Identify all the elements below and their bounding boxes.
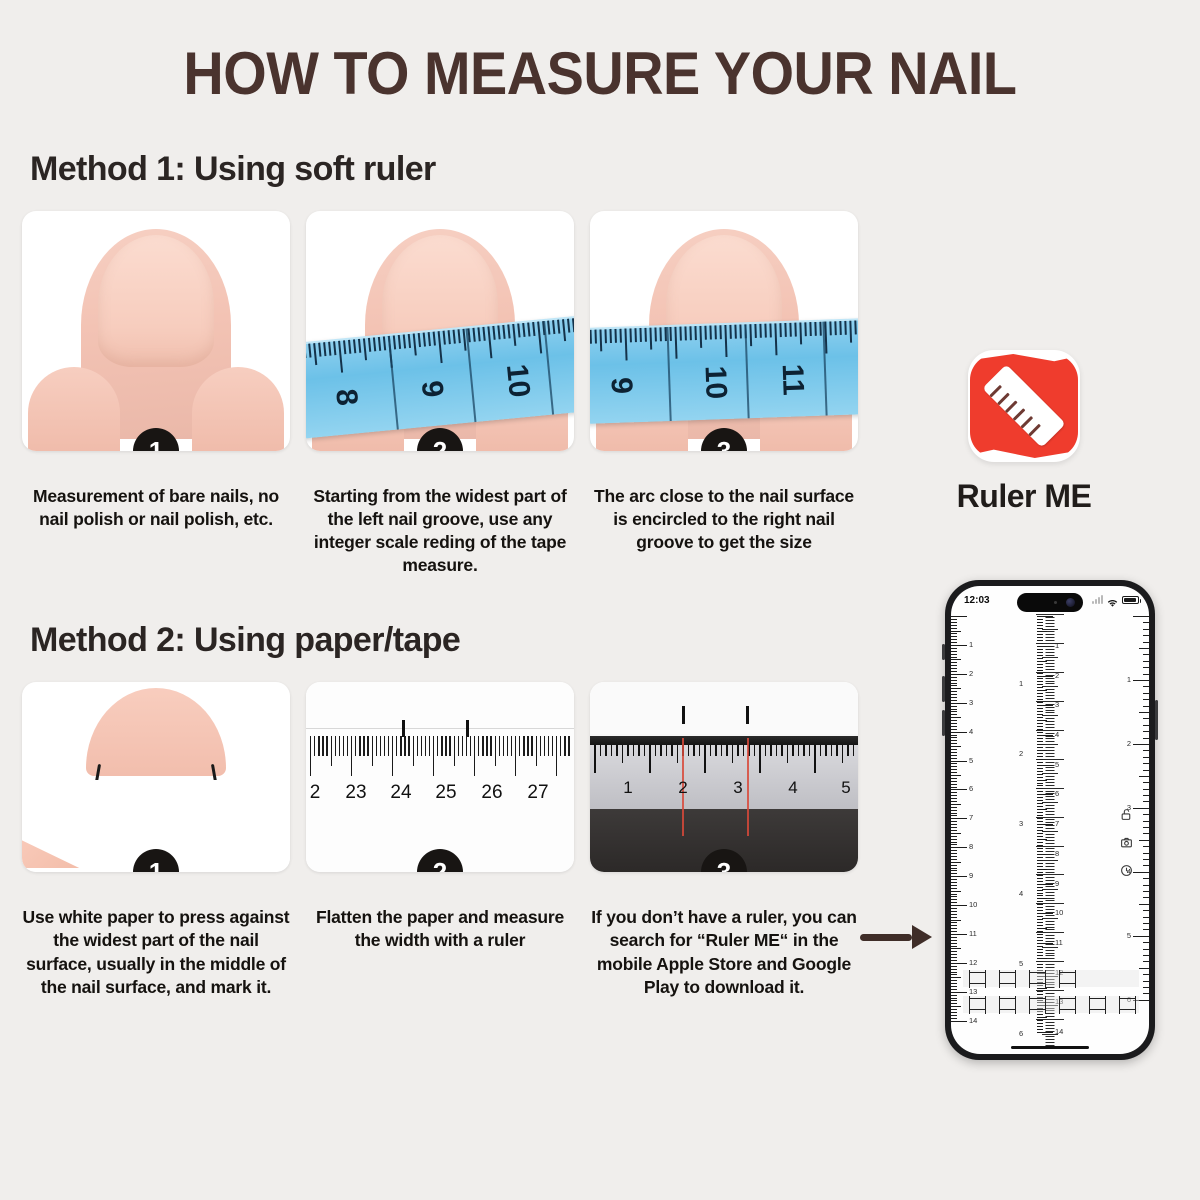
ruler-me-app-icon[interactable] (968, 350, 1080, 462)
step-caption: If you don’t have a ruler, you can searc… (590, 906, 858, 998)
dynamic-island (1017, 593, 1083, 612)
ruler-number: 26 (481, 782, 502, 804)
battery-icon (1122, 596, 1139, 604)
step-card-m1-3: 9 10 11 3 The arc close to the nail surf… (590, 211, 858, 577)
step-image-metal-ruler: 1 2 3 4 5 3 (590, 682, 858, 872)
bare-fingernail-illustration (22, 211, 290, 451)
status-bar-indicators (1092, 595, 1139, 604)
sensor-dot-icon (1054, 601, 1057, 604)
app-promo-column: Ruler ME 12:03 (890, 150, 1200, 1160)
volume-down-button[interactable] (942, 710, 945, 736)
pen-mark-a (402, 720, 405, 737)
step-image-paper-on-nail: 1 (22, 682, 290, 872)
ruler-number: 1 (623, 778, 632, 798)
step-caption: Use white paper to press against the wid… (22, 906, 290, 998)
measurement-row-1[interactable] (963, 970, 1139, 987)
ruler-number: 5 (841, 778, 850, 798)
step-card-m2-2: 2 23 24 25 26 27 2 Flatten the paper and… (306, 682, 574, 998)
history-clock-icon[interactable] (1120, 864, 1133, 877)
metal-ruler-illustration: 1 2 3 4 5 (590, 682, 858, 872)
phone-mockup: 12:03 1234567891011121314 123456 123456 … (945, 580, 1155, 1060)
nail-under-paper-shape (86, 688, 226, 776)
power-button[interactable] (1155, 700, 1158, 740)
tape-number: 10 (698, 365, 733, 400)
method-1-steps-row: 1 Measurement of bare nails, no nail pol… (0, 211, 890, 577)
phone-tool-icons (1120, 808, 1133, 877)
tape-ticks (590, 320, 858, 364)
step-caption: The arc close to the nail surface is enc… (590, 485, 858, 554)
app-name-label: Ruler ME (890, 478, 1158, 515)
arrow-shaft (860, 934, 912, 941)
tape-number: 11 (775, 363, 810, 396)
arrow-head (912, 925, 932, 949)
wifi-icon (1107, 595, 1118, 604)
pen-mark-b (746, 706, 749, 724)
front-camera-icon (1066, 598, 1075, 607)
ruler-top-black-edge (590, 736, 858, 745)
step-card-m1-1: 1 Measurement of bare nails, no nail pol… (22, 211, 290, 577)
pen-mark-a (682, 706, 685, 724)
step-card-m2-1: 1 Use white paper to press against the w… (22, 682, 290, 998)
right-arrow-icon (860, 925, 932, 947)
step-card-m2-3: 1 2 3 4 5 3 If you don’t have a ruler, y… (590, 682, 858, 998)
mute-switch[interactable] (942, 644, 945, 660)
paper-edge (306, 728, 574, 729)
nail-plate-shape (98, 235, 214, 367)
ruler-number: 4 (788, 778, 797, 798)
ruler-number: 2 (310, 782, 321, 804)
red-guide-line-b (747, 738, 749, 836)
step-card-m1-2: 8 9 10 2 Starting from the widest part o… (306, 211, 574, 577)
ruler-number: 2 (678, 778, 687, 798)
status-bar-time: 12:03 (964, 595, 990, 606)
ruler-ticks (310, 736, 570, 780)
volume-up-button[interactable] (942, 676, 945, 702)
tape-number: 9 (414, 379, 449, 399)
ruler-ticks (590, 745, 858, 775)
unlock-icon[interactable] (1120, 808, 1133, 821)
ruler-number: 23 (345, 782, 366, 804)
ruler-number: 25 (435, 782, 456, 804)
step-image-paper-ruler: 2 23 24 25 26 27 2 (306, 682, 574, 872)
step-caption: Flatten the paper and measure the width … (306, 906, 574, 952)
tape-number: 9 (604, 377, 639, 395)
measurement-row-2[interactable] (963, 996, 1139, 1013)
method-1-heading: Method 1: Using soft ruler (30, 150, 890, 189)
step-image-tape-measure-wrap: 9 10 11 3 (590, 211, 858, 451)
tape-number: 10 (499, 363, 536, 399)
tape-number: 8 (328, 387, 363, 407)
step-image-bare-nail: 1 (22, 211, 290, 451)
cellular-signal-icon (1092, 595, 1103, 604)
step-caption: Measurement of bare nails, no nail polis… (22, 485, 290, 531)
ruler-number: 27 (527, 782, 548, 804)
knuckle-left-shape (28, 367, 120, 451)
page-title: HOW TO MEASURE YOUR NAIL (42, 0, 1158, 104)
step-image-tape-measure-start: 8 9 10 2 (306, 211, 574, 451)
blue-tape-measure: 9 10 11 (590, 318, 858, 424)
method-2-heading: Method 2: Using paper/tape (30, 621, 890, 660)
phone-screen[interactable]: 12:03 1234567891011121314 123456 123456 … (951, 586, 1149, 1054)
knuckle-right-shape (192, 367, 284, 451)
home-indicator (1011, 1046, 1089, 1050)
method-2-steps-row: 1 Use white paper to press against the w… (0, 682, 890, 998)
paper-background (590, 682, 858, 734)
step-caption: Starting from the widest part of the lef… (306, 485, 574, 577)
paper-ruler-illustration: 2 23 24 25 26 27 (306, 682, 574, 872)
camera-icon[interactable] (1120, 836, 1133, 849)
ruler-number: 3 (733, 778, 742, 798)
ruler-number: 24 (390, 782, 411, 804)
pen-mark-b (466, 720, 469, 737)
methods-container: Method 1: Using soft ruler 1 Measurement… (0, 150, 890, 999)
